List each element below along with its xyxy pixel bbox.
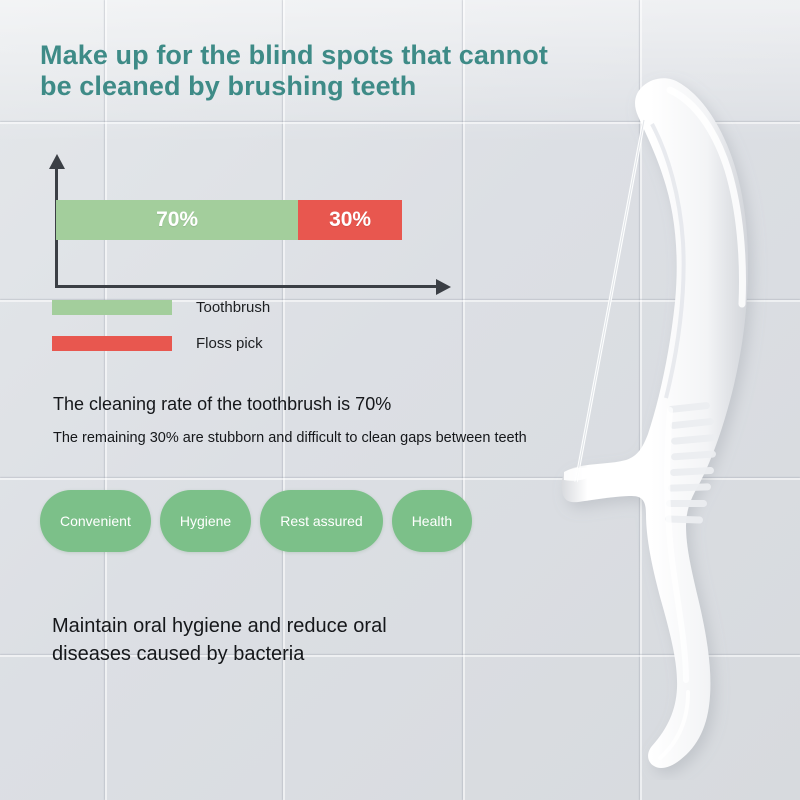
x-axis-arrow-icon xyxy=(436,279,451,295)
chart-legend: Toothbrush Floss pick xyxy=(52,298,270,370)
pill-label: Health xyxy=(412,513,452,529)
legend-swatch-toothbrush xyxy=(52,300,172,315)
infographic-page: Make up for the blind spots that cannot … xyxy=(0,0,800,800)
legend-label-toothbrush: Toothbrush xyxy=(196,299,270,316)
legend-label-floss-pick: Floss pick xyxy=(196,335,263,352)
y-axis-arrow-icon xyxy=(49,154,65,169)
pill-label: Hygiene xyxy=(180,513,231,529)
closing-line-2: diseases caused by bacteria xyxy=(52,640,522,668)
body-line-secondary: The remaining 30% are stubborn and diffi… xyxy=(53,430,527,446)
floss-pick-product-image xyxy=(520,20,800,780)
chart-x-axis xyxy=(55,285,440,288)
pill-health: Health xyxy=(392,490,472,552)
pill-hygiene: Hygiene xyxy=(160,490,251,552)
bar-segment-floss-pick: 30% xyxy=(298,200,402,240)
closing-line-1: Maintain oral hygiene and reduce oral xyxy=(52,612,522,640)
pill-label: Convenient xyxy=(60,513,131,529)
legend-swatch-floss-pick xyxy=(52,336,172,351)
pill-rest-assured: Rest assured xyxy=(260,490,382,552)
pill-label: Rest assured xyxy=(280,513,362,529)
feature-pill-group: Convenient Hygiene Rest assured Health xyxy=(40,490,472,552)
body-line-primary: The cleaning rate of the toothbrush is 7… xyxy=(53,394,391,415)
bar-segment-toothbrush: 70% xyxy=(56,200,298,240)
pill-convenient: Convenient xyxy=(40,490,151,552)
legend-item-toothbrush: Toothbrush xyxy=(52,298,270,316)
stacked-bar: 70% 30% xyxy=(56,200,402,240)
floss-pick-silhouette xyxy=(562,78,748,768)
legend-item-floss-pick: Floss pick xyxy=(52,334,270,352)
closing-statement: Maintain oral hygiene and reduce oral di… xyxy=(52,612,522,669)
cleaning-rate-chart: 70% 30% xyxy=(40,150,460,290)
